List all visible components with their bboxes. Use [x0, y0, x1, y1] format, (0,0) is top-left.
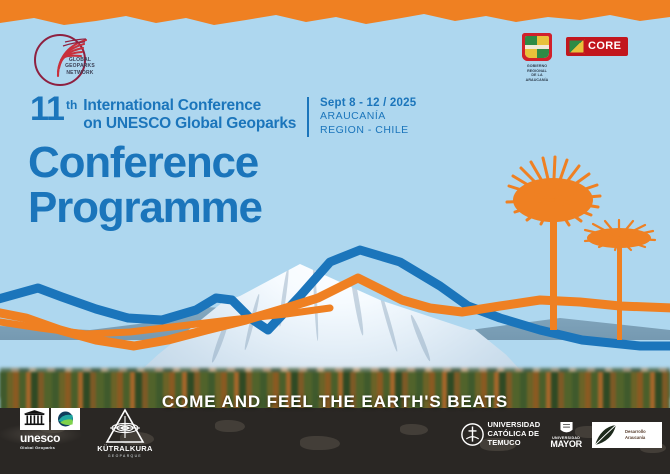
desarrollo-araucania-logo: Desarrollo Araucanía [592, 422, 662, 448]
page-title-line2: Programme [28, 186, 262, 231]
conference-heading: 11 th International Conference on UNESCO… [30, 96, 296, 134]
gov-caption-l2: DE LA ARAUCANÍA [520, 73, 554, 82]
event-country: REGION - CHILE [320, 123, 416, 137]
core-emblem-icon [568, 39, 585, 54]
kutralkura-volcano-icon [97, 408, 153, 444]
footer-left-logos: unesco Global Geoparks KÜTRALKURA GEOPAR… [20, 408, 154, 458]
universidad-mayor-logo: UNIVERSIDAD MAYOR [550, 420, 582, 449]
gobierno-regional-araucania-logo: GOBIERNO REGIONAL DE LA ARAUCANÍA [520, 33, 554, 83]
ggn-caption-l3: NETWORK [57, 70, 103, 76]
umayor-crest-icon [557, 420, 576, 436]
uct-line3: TEMUCO [488, 439, 541, 448]
government-logos: GOBIERNO REGIONAL DE LA ARAUCANÍA CORE [520, 33, 628, 83]
conference-number: 11 [30, 96, 64, 124]
araucania-leaf-icon [592, 422, 622, 448]
unesco-temple-icon [20, 408, 49, 430]
umayor-wordmark: MAYOR [550, 440, 582, 449]
kutralkura-geopark-logo: KÜTRALKURA GEOPARQUE [96, 408, 154, 458]
event-region: ARAUCANÍA [320, 109, 416, 123]
araucania-coat-of-arms-icon [522, 33, 552, 61]
gov-caption-l1: GOBIERNO REGIONAL [520, 64, 554, 73]
unesco-wordmark: unesco [20, 432, 82, 444]
unesco-marks [20, 408, 82, 430]
coat-of-arms-inner [525, 36, 549, 58]
kutralkura-sub: GEOPARQUE [108, 454, 142, 458]
event-dates: Sept 8 - 12 / 2025 [320, 97, 416, 109]
footer-right-logos: UNIVERSIDAD CATÓLICA DE TEMUCO UNIVERSID… [461, 420, 662, 449]
universidad-catolica-de-temuco-logo: UNIVERSIDAD CATÓLICA DE TEMUCO [461, 421, 541, 448]
desarrollo-line2: Araucanía [625, 435, 662, 441]
unesco-geoparks-sub: Global Geoparks [20, 445, 82, 450]
uct-wordmark: UNIVERSIDAD CATÓLICA DE TEMUCO [488, 421, 541, 448]
conference-ordinal: th [66, 98, 77, 112]
conference-name-line2: on UNESCO Global Geoparks [83, 115, 296, 133]
core-logo: CORE [566, 33, 628, 56]
gobierno-regional-caption: GOBIERNO REGIONAL DE LA ARAUCANÍA [520, 64, 554, 83]
conference-name-line1: International Conference [83, 97, 296, 115]
araucaria-tree-small [585, 220, 655, 340]
conference-name: International Conference on UNESCO Globa… [83, 97, 296, 134]
page-title-line1: Conference [28, 141, 262, 186]
conference-programme-poster: GLOBAL GEOPARKS NETWORK GOBIERNO REGIONA… [0, 0, 670, 474]
arms-band [525, 45, 549, 49]
ggn-logo-caption: GLOBAL GEOPARKS NETWORK [57, 57, 103, 76]
unesco-logo: unesco Global Geoparks [20, 408, 82, 450]
kutralkura-wordmark: KÜTRALKURA [97, 445, 153, 453]
event-details: Sept 8 - 12 / 2025 ARAUCANÍA REGION - CH… [307, 97, 416, 137]
core-label: CORE [588, 41, 621, 52]
uct-emblem-icon [461, 423, 484, 446]
unesco-geoparks-globe-icon [51, 408, 80, 430]
page-title: Conference Programme [28, 141, 262, 231]
core-badge: CORE [566, 37, 628, 56]
desarrollo-araucania-wordmark: Desarrollo Araucanía [622, 422, 662, 448]
